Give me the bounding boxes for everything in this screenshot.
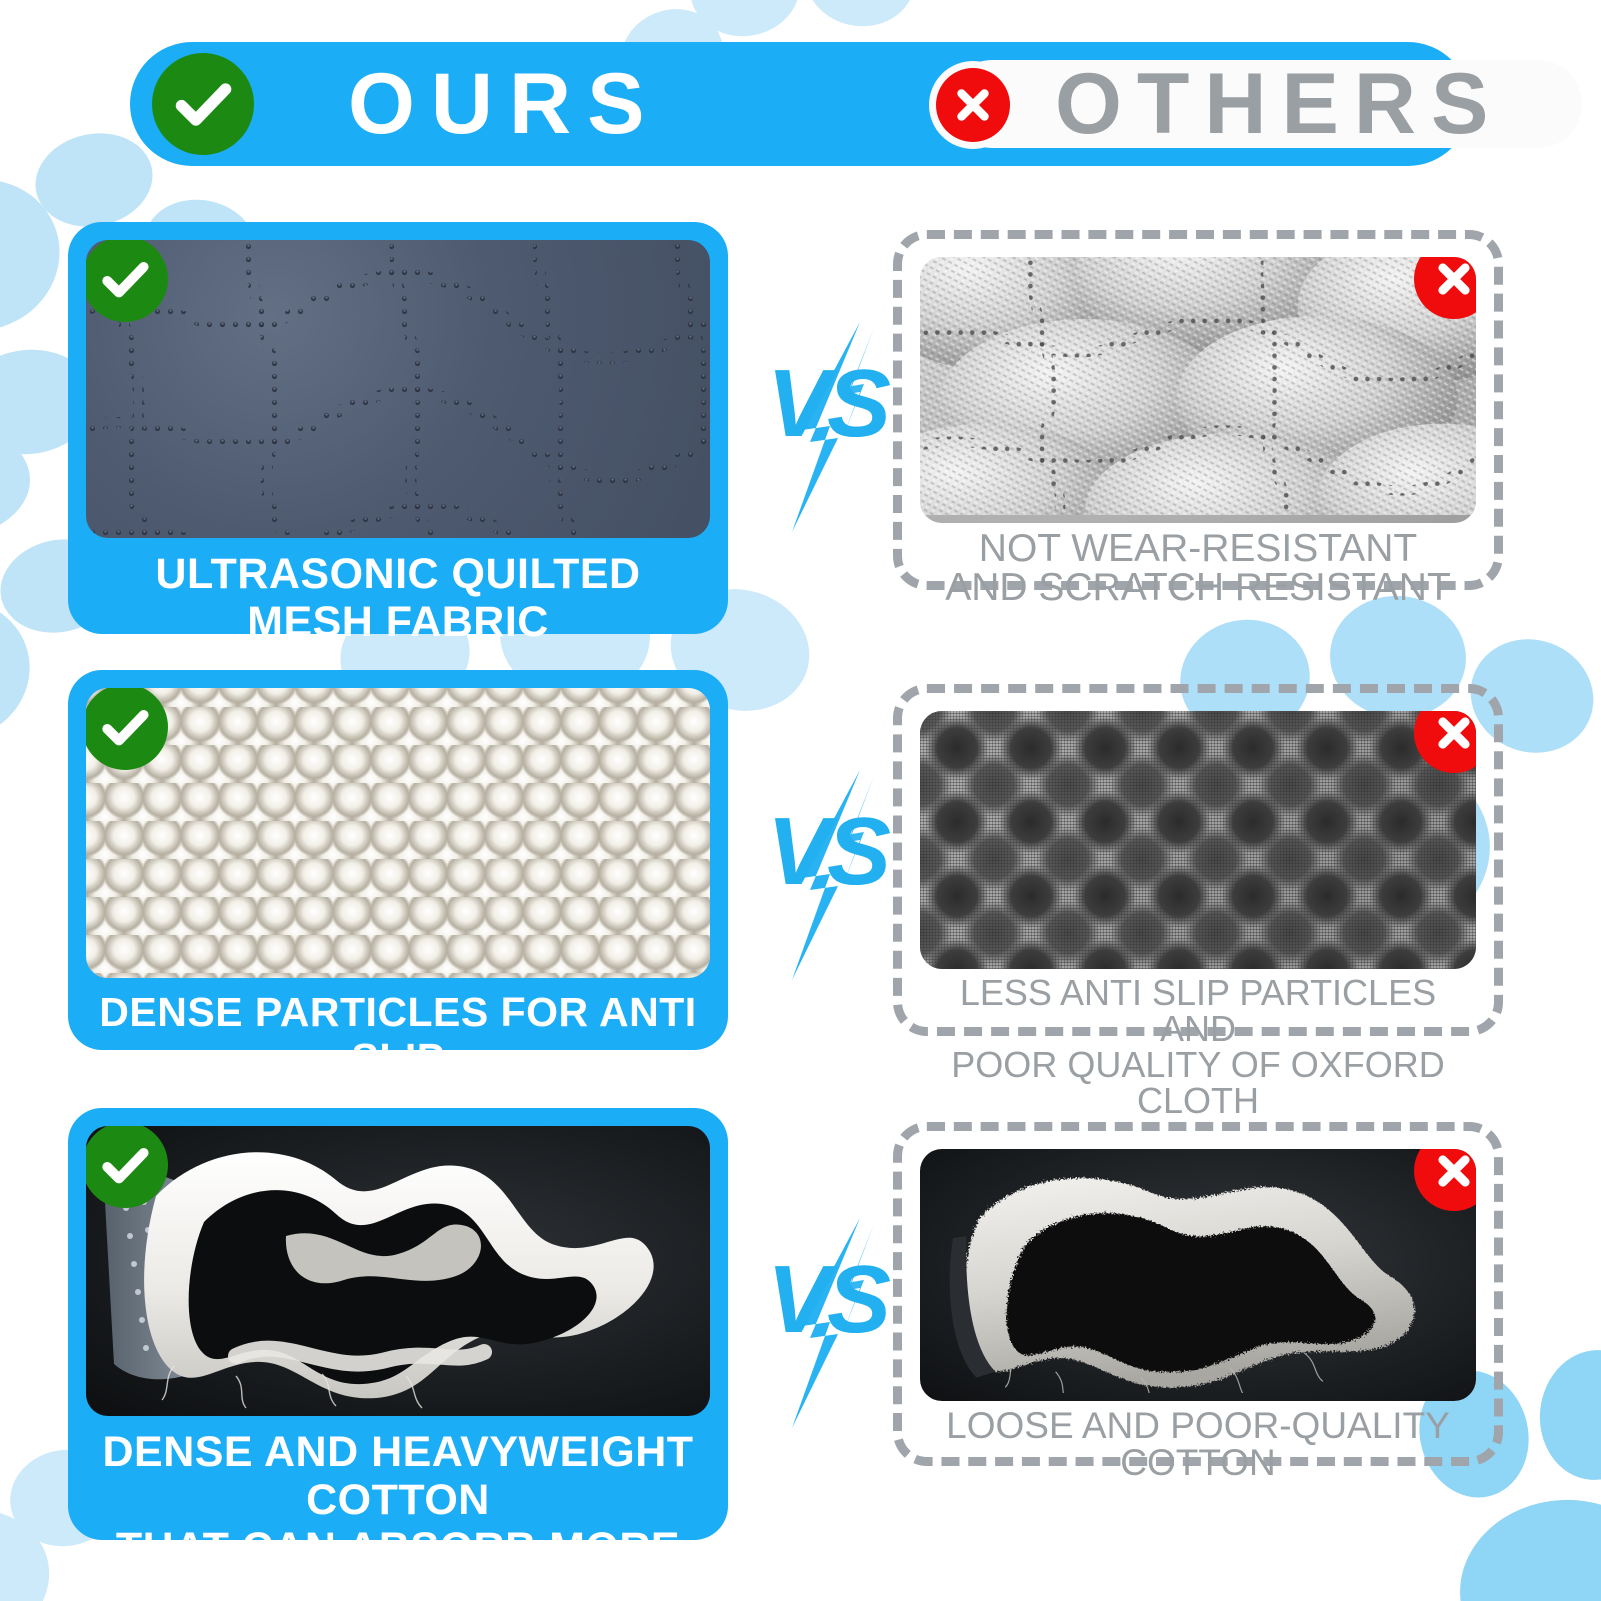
vs-badge-row3: VS	[752, 1218, 902, 1428]
ours-caption-row1: ULTRASONIC QUILTED MESH FABRIC	[86, 538, 710, 652]
comparison-header: OURS OTHERS	[130, 42, 1470, 166]
ours-image-row1	[86, 240, 710, 538]
vs-badge-row2: VS	[752, 770, 902, 980]
ours-card-row2: DENSE PARTICLES FOR ANTI SLIP	[68, 670, 728, 1050]
others-caption-row2: LESS ANTI SLIP PARTICLES AND POOR QUALIT…	[920, 969, 1476, 1119]
others-card-row1: NOT WEAR-RESISTANT AND SCRATCH RESISTANT	[893, 230, 1503, 590]
others-image-row1	[920, 257, 1476, 523]
vs-badge-row1: VS	[752, 322, 902, 532]
others-image-row3	[920, 1149, 1476, 1401]
vs-label-row2: VS	[752, 804, 902, 900]
check-circle-icon	[152, 53, 254, 155]
others-card-row3: LOOSE AND POOR-QUALITY COTTON	[893, 1122, 1503, 1466]
others-title: OTHERS	[1055, 61, 1503, 147]
x-circle-icon	[936, 68, 1010, 142]
ours-caption-row2: DENSE PARTICLES FOR ANTI SLIP	[86, 978, 710, 1088]
ours-title: OURS	[348, 61, 660, 147]
infographic-canvas: OURS OTHERS	[0, 0, 1601, 1601]
vs-label-row1: VS	[752, 356, 902, 452]
others-image-row2	[920, 711, 1476, 969]
others-card-row2: LESS ANTI SLIP PARTICLES AND POOR QUALIT…	[893, 684, 1503, 1036]
ours-image-row3	[86, 1126, 710, 1416]
ours-card-row1: ULTRASONIC QUILTED MESH FABRIC	[68, 222, 728, 634]
others-caption-row3: LOOSE AND POOR-QUALITY COTTON	[920, 1401, 1476, 1481]
ours-image-row2	[86, 688, 710, 978]
vs-label-row3: VS	[752, 1252, 902, 1348]
ours-card-row3: DENSE AND HEAVYWEIGHT COTTON THAT CAN AB…	[68, 1108, 728, 1540]
ours-caption-row3: DENSE AND HEAVYWEIGHT COTTON THAT CAN AB…	[86, 1416, 710, 1601]
others-caption-row1: NOT WEAR-RESISTANT AND SCRATCH RESISTANT	[920, 523, 1476, 607]
